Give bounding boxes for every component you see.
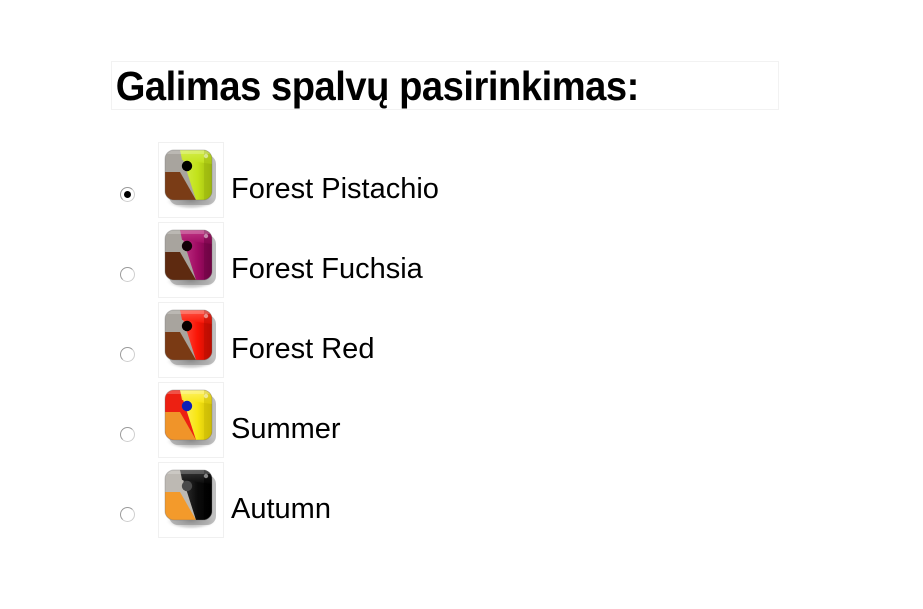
- radio-forest-red[interactable]: [120, 347, 135, 362]
- color-option-label[interactable]: Forest Red: [231, 333, 374, 365]
- color-chooser-page: Galimas spalvų pasirinkimas:: [0, 0, 923, 609]
- forest-fuchsia-swatch-icon[interactable]: [158, 222, 224, 298]
- color-option-row[interactable]: Forest Pistachio: [0, 140, 923, 220]
- summer-swatch-icon[interactable]: [158, 382, 224, 458]
- page-title-box: Galimas spalvų pasirinkimas:: [111, 61, 779, 110]
- color-option-label[interactable]: Autumn: [231, 493, 331, 525]
- color-option-row[interactable]: Forest Fuchsia: [0, 220, 923, 300]
- radio-dot: [124, 271, 131, 278]
- radio-dot: [124, 431, 131, 438]
- color-option-row[interactable]: Summer: [0, 380, 923, 460]
- page-title: Galimas spalvų pasirinkimas:: [112, 64, 639, 108]
- color-option-label[interactable]: Forest Pistachio: [231, 173, 439, 205]
- color-option-label[interactable]: Forest Fuchsia: [231, 253, 423, 285]
- forest-red-swatch-icon[interactable]: [158, 302, 224, 378]
- radio-summer[interactable]: [120, 427, 135, 442]
- radio-dot: [124, 191, 131, 198]
- radio-forest-pistachio[interactable]: [120, 187, 135, 202]
- forest-pistachio-swatch-icon[interactable]: [158, 142, 224, 218]
- radio-forest-fuchsia[interactable]: [120, 267, 135, 282]
- color-option-row[interactable]: Autumn: [0, 460, 923, 540]
- color-option-list: Forest Pistachio: [0, 140, 923, 540]
- color-option-label[interactable]: Summer: [231, 413, 341, 445]
- autumn-swatch-icon[interactable]: [158, 462, 224, 538]
- radio-dot: [124, 511, 131, 518]
- radio-autumn[interactable]: [120, 507, 135, 522]
- radio-dot: [124, 351, 131, 358]
- color-option-row[interactable]: Forest Red: [0, 300, 923, 380]
